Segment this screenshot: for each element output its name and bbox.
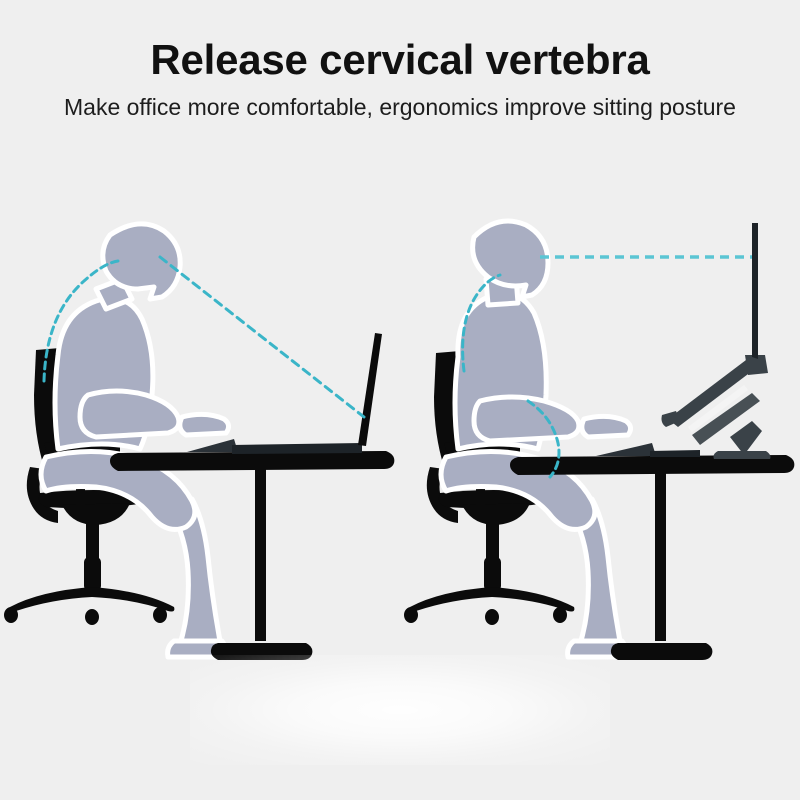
- chair-caster: [553, 607, 567, 623]
- laptop-stand: [662, 355, 771, 459]
- chair-caster: [4, 607, 18, 623]
- left-illustration-bad-posture: [0, 205, 400, 665]
- desk-leg: [255, 469, 266, 641]
- desk-foot: [211, 643, 313, 660]
- bad-posture-scene: [0, 205, 400, 665]
- floor-glow-highlight: [190, 655, 610, 765]
- chair-caster: [404, 607, 418, 623]
- sightline-dashed: [160, 257, 364, 417]
- product-infographic-poster: Release cervical vertebra Make office mo…: [0, 0, 800, 800]
- page-title: Release cervical vertebra: [0, 0, 800, 82]
- chair-caster: [85, 609, 99, 625]
- desk-foot: [611, 643, 713, 660]
- laptop-screen: [752, 223, 758, 359]
- arm: [80, 391, 179, 437]
- page-subtitle: Make office more comfortable, ergonomics…: [0, 82, 800, 120]
- illustration-panels: [0, 205, 800, 665]
- chair-caster: [485, 609, 499, 625]
- header-block: Release cervical vertebra Make office mo…: [0, 0, 800, 121]
- keyboard-wedge: [187, 439, 238, 452]
- arm: [474, 397, 579, 441]
- chair-caster: [153, 607, 167, 623]
- laptop-screen: [358, 333, 382, 446]
- good-posture-scene: [400, 205, 800, 665]
- desk-leg: [655, 473, 666, 641]
- right-illustration-good-posture: [400, 205, 800, 665]
- hand-on-mouse: [180, 414, 229, 435]
- keyboard-wedge: [596, 443, 700, 457]
- laptop-base: [232, 443, 362, 454]
- desk-top: [110, 451, 394, 471]
- hand-on-mouse: [582, 416, 631, 437]
